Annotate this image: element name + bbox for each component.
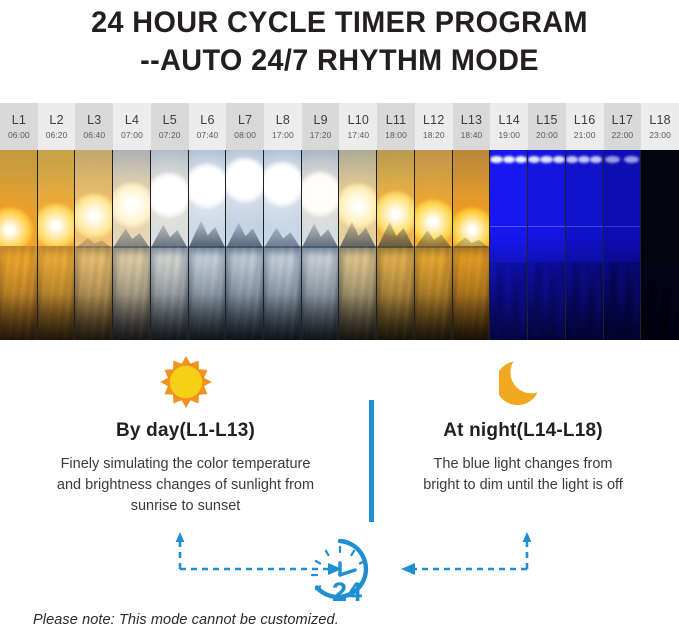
timeline-cell: L817:00 — [264, 103, 302, 150]
sun-icon — [8, 352, 363, 412]
timeline-time-label: 22:00 — [611, 130, 633, 140]
preview-panel-day — [189, 150, 227, 340]
timeline-time-label: 06:20 — [46, 130, 68, 140]
timeline-time-label: 21:00 — [574, 130, 596, 140]
moon-icon — [374, 352, 672, 412]
timeline-cell: L407:00 — [113, 103, 151, 150]
timeline-level-label: L8 — [276, 113, 290, 128]
explanation-columns: By day(L1-L13) Finely simulating the col… — [0, 352, 679, 527]
timeline-time-label: 07:40 — [197, 130, 219, 140]
lighting-preview-strip — [0, 150, 679, 340]
footer-note: Please note: This mode cannot be customi… — [33, 612, 339, 628]
page-title: 24 HOUR CYCLE TIMER PROGRAM --AUTO 24/7 … — [0, 0, 679, 80]
timeline-level-label: L4 — [125, 113, 139, 128]
preview-panel-day — [377, 150, 415, 340]
timeline-time-label: 07:00 — [121, 130, 143, 140]
timeline-cell: L1520:00 — [528, 103, 566, 150]
preview-panel-day — [38, 150, 76, 340]
clock-24-label: 24 — [331, 577, 361, 603]
day-body-line-3: sunrise to sunset — [20, 496, 351, 517]
preview-panel-day — [151, 150, 189, 340]
preview-panel-day — [339, 150, 377, 340]
timeline-time-label: 23:00 — [649, 130, 671, 140]
preview-panel-day — [113, 150, 151, 340]
timeline-level-label: L1 — [12, 113, 26, 128]
timeline-cell: L1722:00 — [604, 103, 642, 150]
timeline-level-label: L14 — [498, 113, 519, 128]
cycle-loop-diagram: 24 — [0, 527, 679, 607]
preview-panel-day — [264, 150, 302, 340]
preview-panel-night — [490, 150, 528, 340]
timeline-label-bar: L106:00L206:20L306:40L407:00L507:20L607:… — [0, 103, 679, 150]
timeline-level-label: L17 — [612, 113, 633, 128]
timeline-cell: L1823:00 — [641, 103, 679, 150]
night-column: At night(L14-L18) The blue light changes… — [374, 352, 672, 496]
timeline-level-label: L12 — [423, 113, 444, 128]
timeline-level-label: L5 — [163, 113, 177, 128]
timeline-cell: L917:20 — [302, 103, 340, 150]
timeline-time-label: 07:20 — [159, 130, 181, 140]
timeline-cell: L1621:00 — [566, 103, 604, 150]
timeline-cell: L1318:40 — [453, 103, 491, 150]
timeline-level-label: L16 — [574, 113, 595, 128]
timeline-time-label: 06:40 — [83, 130, 105, 140]
timeline-time-label: 18:20 — [423, 130, 445, 140]
page-title-line-1: 24 HOUR CYCLE TIMER PROGRAM — [14, 4, 666, 42]
day-column-body: Finely simulating the color temperature … — [8, 454, 363, 517]
timeline-cell: L607:40 — [189, 103, 227, 150]
timeline-time-label: 17:00 — [272, 130, 294, 140]
preview-panel-night — [604, 150, 642, 340]
day-body-line-1: Finely simulating the color temperature — [20, 454, 351, 475]
timeline-time-label: 17:40 — [347, 130, 369, 140]
timeline-time-label: 06:00 — [8, 130, 30, 140]
timeline-time-label: 17:20 — [310, 130, 332, 140]
timeline-level-label: L9 — [313, 113, 327, 128]
timeline-level-label: L18 — [649, 113, 670, 128]
timeline-cell: L1017:40 — [339, 103, 377, 150]
clock-24-icon: 24 — [300, 535, 380, 608]
preview-panel-day — [415, 150, 453, 340]
timeline-cell: L1118:00 — [377, 103, 415, 150]
timeline-cell: L106:00 — [0, 103, 38, 150]
night-body-line-1: The blue light changes from — [386, 454, 660, 475]
preview-panel-day — [302, 150, 340, 340]
night-column-heading: At night(L14-L18) — [374, 420, 672, 442]
timeline-time-label: 08:00 — [234, 130, 256, 140]
page-title-line-2: --AUTO 24/7 RHYTHM MODE — [14, 42, 666, 80]
timeline-cell: L206:20 — [38, 103, 76, 150]
timeline-level-label: L7 — [238, 113, 252, 128]
timeline-time-label: 20:00 — [536, 130, 558, 140]
timeline-cell: L1419:00 — [490, 103, 528, 150]
timeline-time-label: 19:00 — [498, 130, 520, 140]
timeline-level-label: L3 — [87, 113, 101, 128]
timeline-cell: L507:20 — [151, 103, 189, 150]
timeline-level-label: L13 — [461, 113, 482, 128]
timeline-level-label: L10 — [348, 113, 369, 128]
preview-panel-day — [453, 150, 491, 340]
timeline-cell: L306:40 — [75, 103, 113, 150]
night-column-body: The blue light changes from bright to di… — [374, 454, 672, 496]
timeline-time-label: 18:00 — [385, 130, 407, 140]
preview-panel-day — [226, 150, 264, 340]
day-body-line-2: and brightness changes of sunlight from — [20, 475, 351, 496]
timeline-level-label: L6 — [200, 113, 214, 128]
preview-panel-day — [75, 150, 113, 340]
day-column-heading: By day(L1-L13) — [8, 420, 363, 442]
timeline-level-label: L15 — [536, 113, 557, 128]
timeline-level-label: L2 — [49, 113, 63, 128]
timeline-time-label: 18:40 — [461, 130, 483, 140]
preview-panel-night — [528, 150, 566, 340]
day-column: By day(L1-L13) Finely simulating the col… — [8, 352, 363, 517]
preview-panel-day — [0, 150, 38, 340]
timeline-cell: L708:00 — [226, 103, 264, 150]
timeline-cell: L1218:20 — [415, 103, 453, 150]
timeline-level-label: L11 — [386, 113, 407, 128]
preview-panel-night — [566, 150, 604, 340]
preview-panel-night — [641, 150, 679, 340]
night-body-line-2: bright to dim until the light is off — [386, 475, 660, 496]
